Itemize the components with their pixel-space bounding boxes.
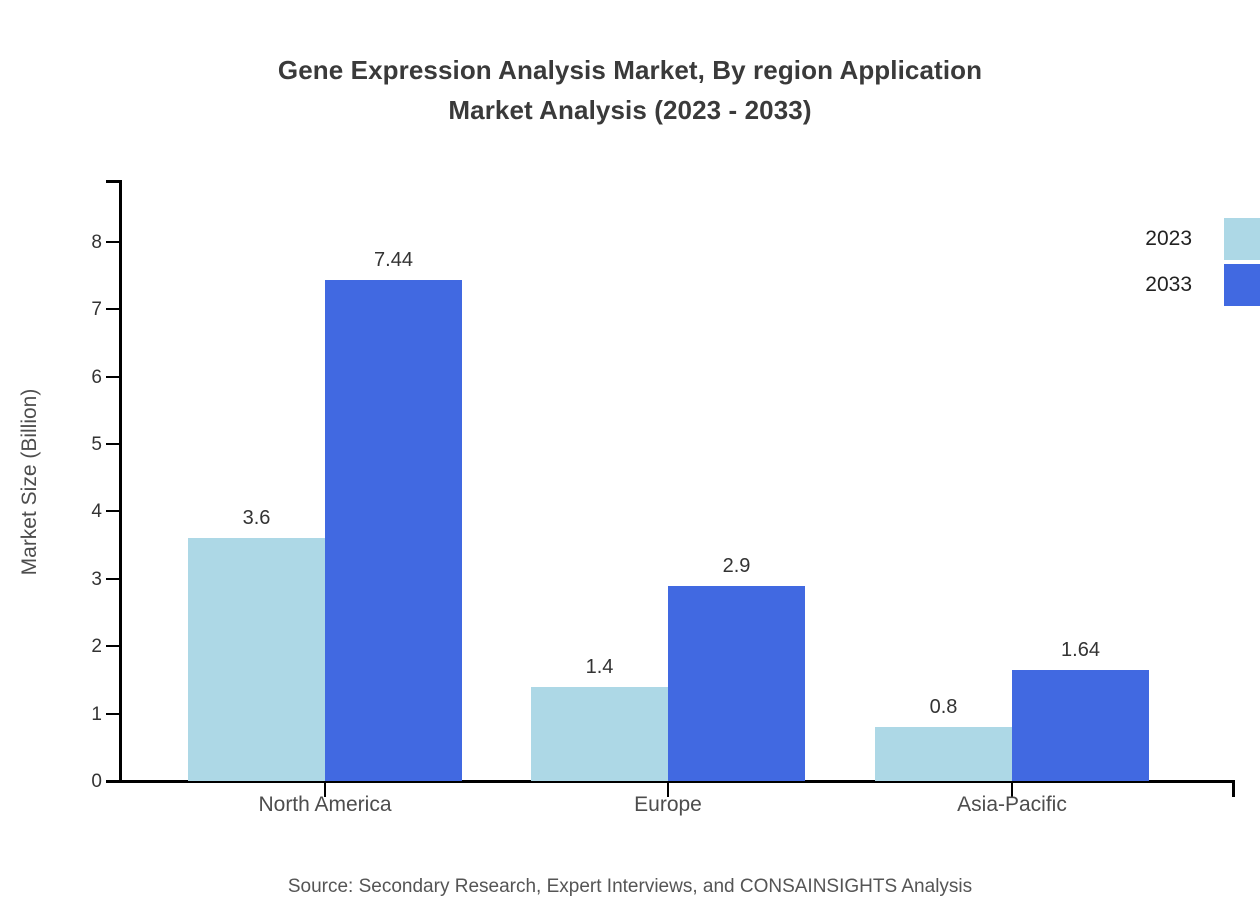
bar[interactable]	[531, 687, 668, 781]
y-tick-mark	[106, 510, 122, 512]
x-tick-label: Europe	[498, 793, 838, 817]
bar-value-label: 1.64	[1012, 640, 1149, 660]
bar-value-label: 1.4	[531, 657, 668, 677]
y-axis-title: Market Size (Billion)	[18, 342, 42, 622]
y-tick-label: 6	[60, 368, 102, 387]
y-tick-label: 7	[60, 300, 102, 319]
y-tick-mark	[106, 308, 122, 310]
x-tick-label: Asia-Pacific	[842, 793, 1182, 817]
bar[interactable]	[188, 538, 325, 781]
y-tick-mark	[106, 780, 122, 782]
bar[interactable]	[875, 727, 1012, 781]
bar-value-label: 7.44	[325, 250, 462, 270]
legend-item[interactable]: 2023	[924, 218, 1260, 260]
chart-canvas: Gene Expression Analysis Market, By regi…	[0, 0, 1260, 920]
y-tick-mark	[106, 241, 122, 243]
chart-title-line-1: Gene Expression Analysis Market, By regi…	[0, 50, 1260, 90]
y-tick-label: 3	[60, 570, 102, 589]
chart-title-line-2: Market Analysis (2023 - 2033)	[0, 90, 1260, 130]
y-tick-mark	[106, 376, 122, 378]
bar[interactable]	[325, 280, 462, 781]
page-title: Gene Expression Analysis Market, By regi…	[0, 50, 1260, 130]
legend-item[interactable]: 2033	[924, 264, 1260, 306]
legend-label: 2023	[1145, 218, 1224, 260]
legend-label: 2033	[1145, 264, 1224, 306]
bar[interactable]	[668, 586, 805, 781]
y-tick-label: 0	[60, 772, 102, 791]
legend-color-swatch	[1224, 264, 1260, 306]
bar-value-label: 2.9	[668, 556, 805, 576]
y-tick-mark	[106, 443, 122, 445]
y-tick-mark	[106, 645, 122, 647]
y-tick-label: 5	[60, 435, 102, 454]
bar-value-label: 0.8	[875, 697, 1012, 717]
bar-value-label: 3.6	[188, 508, 325, 528]
x-axis-end-cap	[1232, 780, 1235, 797]
y-tick-label: 2	[60, 637, 102, 656]
bar[interactable]	[1012, 670, 1149, 781]
x-tick-label: North America	[155, 793, 495, 817]
y-axis-line	[119, 180, 122, 783]
y-tick-label: 1	[60, 705, 102, 724]
y-tick-label: 8	[60, 233, 102, 252]
y-tick-mark	[106, 578, 122, 580]
source-note: Source: Secondary Research, Expert Inter…	[0, 876, 1260, 898]
legend-color-swatch	[1224, 218, 1260, 260]
y-tick-label: 4	[60, 502, 102, 521]
y-tick-mark	[106, 713, 122, 715]
